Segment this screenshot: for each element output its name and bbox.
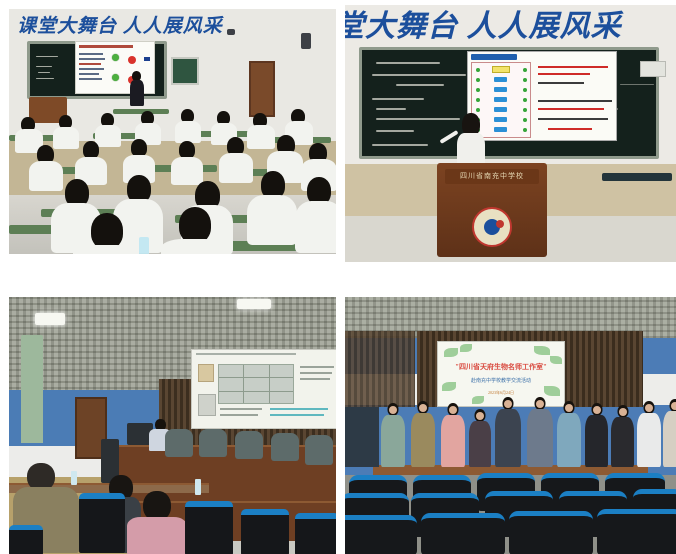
wall-banner-top-right: 课堂大舞台 人人展风采 (345, 5, 622, 45)
slide-table (218, 364, 294, 404)
person (663, 399, 676, 467)
hall-chair (9, 525, 43, 554)
water-bottle (195, 479, 201, 495)
photo-lecture-hall-presentation[interactable] (9, 297, 336, 554)
photo-group-photo-stage[interactable]: "四川省天府生物名师工作室" 赴南充中学校教学交流活动 2023年6月24日 (345, 297, 676, 554)
diagram-red-circle (128, 56, 136, 64)
slide-subtitle: 赴南充中学校教学交流活动 (438, 377, 564, 384)
slide-title: "四川省天府生物名师工作室" (438, 362, 564, 372)
teacher-figure (130, 71, 144, 109)
person (611, 405, 634, 467)
hall-chair (79, 493, 125, 553)
photo-collage: 课堂大舞台 人人展风采 (0, 0, 676, 554)
podium-plate-text: 四川省南充中学校 (445, 169, 539, 184)
ceiling-lamp (35, 313, 65, 325)
water-bottle (139, 237, 149, 254)
diagram-green-circle (112, 74, 119, 81)
hall-chair (241, 509, 289, 554)
person (411, 401, 435, 467)
person (527, 397, 553, 467)
window-curtain (21, 335, 43, 443)
speaker-icon (227, 29, 235, 35)
classroom-door (249, 61, 275, 117)
leaf-decoration (472, 396, 484, 404)
slide-date: 2023年6月24日 (438, 390, 564, 396)
podium-table (345, 407, 379, 467)
diagram-green-circle (112, 54, 119, 61)
water-bottle (71, 471, 77, 485)
person (441, 403, 465, 467)
person (469, 409, 491, 467)
slide-portrait (198, 364, 214, 382)
school-crest-icon (472, 207, 512, 247)
podium: 四川省南充中学校 (437, 163, 547, 257)
photo-classroom-lesson-wide[interactable]: 课堂大舞台 人人展风采 (9, 9, 336, 254)
person (381, 403, 405, 467)
photo-teacher-dna-lesson[interactable]: 课堂大舞台 人人展风采 (345, 5, 676, 262)
side-table (602, 173, 672, 181)
speaker-icon (301, 33, 311, 49)
slide-tab-label (471, 54, 517, 60)
projection-screen (191, 349, 336, 429)
hall-chair (185, 501, 233, 554)
wall-notice (640, 61, 666, 77)
leaf-decoration (534, 346, 550, 355)
slide-portrait (198, 394, 216, 416)
person (557, 401, 581, 467)
ceiling-lamp (237, 299, 271, 309)
leaf-decoration (444, 348, 458, 357)
side-greenboard (171, 57, 199, 85)
leaf-decoration (460, 344, 472, 352)
slide-title-bar (79, 45, 133, 48)
person (585, 403, 608, 467)
hall-wood-panel (345, 331, 415, 407)
person (495, 397, 521, 467)
dna-structure-slide (467, 51, 617, 141)
diagram-blue-box (144, 57, 150, 61)
person (637, 401, 661, 467)
wall-banner-top-left: 课堂大舞台 人人展风采 (17, 11, 223, 38)
audience-figure (127, 491, 187, 554)
hall-chair (295, 513, 336, 554)
